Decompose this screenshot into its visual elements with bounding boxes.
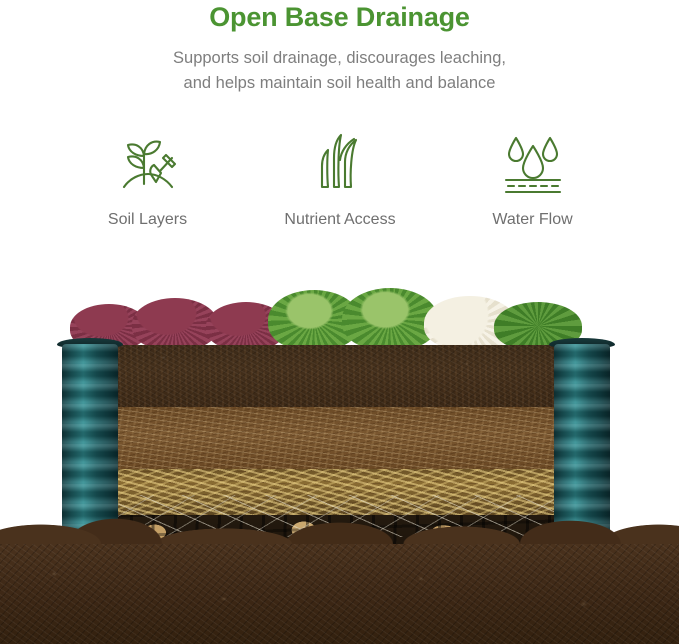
page-subtitle: Supports soil drainage, discourages leac…: [0, 33, 679, 96]
soil-layer-compost-mulch: [108, 407, 574, 469]
feature-label: Water Flow: [492, 208, 572, 232]
feature-list: Soil Layers Nutrient Access: [60, 130, 620, 232]
raised-garden-bed-image: [0, 283, 679, 644]
feature-label: Nutrient Access: [284, 208, 395, 232]
plant-row: [60, 288, 620, 350]
grass-blades-icon: [308, 130, 372, 196]
header: Open Base Drainage Supports soil drainag…: [0, 0, 679, 96]
marketing-product-panel: Open Base Drainage Supports soil drainag…: [0, 0, 679, 644]
subtitle-line-2: and helps maintain soil health and balan…: [0, 71, 679, 96]
ground-surface: [0, 510, 679, 544]
soil-layers-icon: [114, 130, 182, 196]
ground-soil: [0, 544, 679, 644]
soil-layer-straw: [108, 469, 574, 515]
water-droplets-icon: [498, 130, 568, 196]
feature-label: Soil Layers: [108, 208, 187, 232]
feature-nutrient-access: Nutrient Access: [253, 130, 428, 232]
soil-layer-topsoil: [108, 345, 574, 407]
subtitle-line-1: Supports soil drainage, discourages leac…: [173, 49, 506, 67]
feature-soil-layers: Soil Layers: [60, 130, 235, 232]
page-title: Open Base Drainage: [0, 0, 679, 33]
feature-water-flow: Water Flow: [445, 130, 620, 232]
